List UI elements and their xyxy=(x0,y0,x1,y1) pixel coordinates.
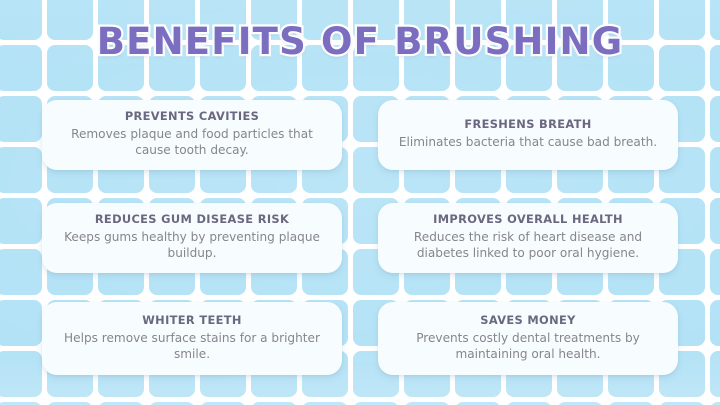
benefit-card-title: REDUCES GUM DISEASE RISK xyxy=(56,213,328,226)
benefit-card-inner: WHITER TEETH Helps remove surface stains… xyxy=(56,312,328,364)
benefit-card: REDUCES GUM DISEASE RISK Keeps gums heal… xyxy=(42,203,342,273)
benefit-card-body: Eliminates bacteria that cause bad breat… xyxy=(392,135,664,151)
benefit-card-title: PREVENTS CAVITIES xyxy=(56,110,328,123)
benefit-card-inner: FRESHENS BREATH Eliminates bacteria that… xyxy=(392,110,664,159)
benefit-card-inner: PREVENTS CAVITIES Removes plaque and foo… xyxy=(56,110,328,159)
benefit-card-body: Helps remove surface stains for a bright… xyxy=(56,331,328,362)
benefit-card-body: Removes plaque and food particles that c… xyxy=(56,127,328,158)
benefit-card-title: WHITER TEETH xyxy=(56,314,328,327)
benefit-card-title: SAVES MONEY xyxy=(392,314,664,327)
benefit-card-body: Reduces the risk of heart disease and di… xyxy=(392,230,664,261)
benefit-card-body: Prevents costly dental treatments by mai… xyxy=(392,331,664,362)
benefit-card-inner: SAVES MONEY Prevents costly dental treat… xyxy=(392,312,664,364)
benefit-card: FRESHENS BREATH Eliminates bacteria that… xyxy=(378,100,678,170)
poster-canvas: BENEFITS OF BRUSHING PREVENTS CAVITIES R… xyxy=(0,0,720,405)
benefit-card-title: FRESHENS BREATH xyxy=(392,118,664,131)
benefit-card-inner: IMPROVES OVERALL HEALTH Reduces the risk… xyxy=(392,213,664,262)
benefit-card-title: IMPROVES OVERALL HEALTH xyxy=(392,213,664,226)
benefit-card-body: Keeps gums healthy by preventing plaque … xyxy=(56,230,328,261)
benefit-card: PREVENTS CAVITIES Removes plaque and foo… xyxy=(42,100,342,170)
benefit-card-inner: REDUCES GUM DISEASE RISK Keeps gums heal… xyxy=(56,213,328,262)
benefit-card: WHITER TEETH Helps remove surface stains… xyxy=(42,302,342,375)
benefit-card: SAVES MONEY Prevents costly dental treat… xyxy=(378,302,678,375)
poster-content: BENEFITS OF BRUSHING PREVENTS CAVITIES R… xyxy=(0,0,720,405)
page-title: BENEFITS OF BRUSHING xyxy=(0,23,720,60)
benefit-card: IMPROVES OVERALL HEALTH Reduces the risk… xyxy=(378,203,678,273)
